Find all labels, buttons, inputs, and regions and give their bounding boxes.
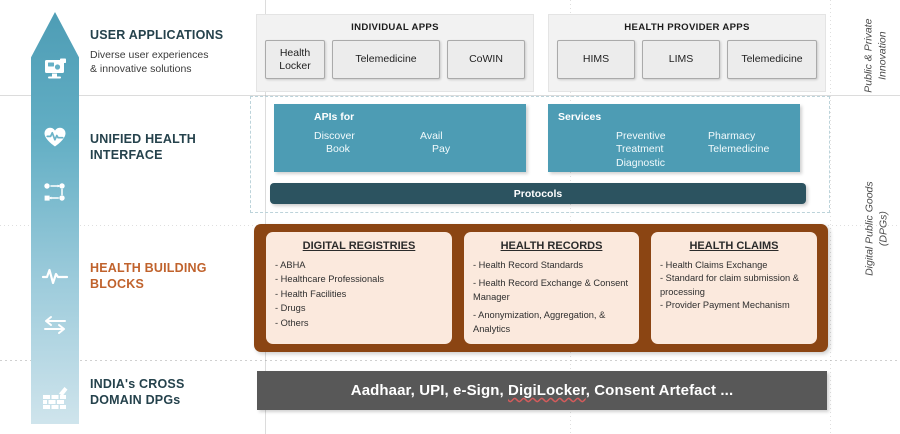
card-list: - ABHA - Healthcare Professionals - Heal… bbox=[275, 259, 443, 330]
services-heading: Services bbox=[548, 104, 800, 123]
apis-item-discover: Discover bbox=[314, 130, 420, 143]
card-list: - Health Claims Exchange - Standard for … bbox=[660, 259, 808, 313]
protocols-label: Protocols bbox=[514, 188, 562, 200]
app-tile-telemedicine[interactable]: Telemedicine bbox=[332, 40, 440, 79]
apis-item-avail: Avail bbox=[420, 130, 526, 143]
list-item: - Standard for claim submission & proces… bbox=[660, 272, 808, 299]
monitor-user-apps-icon bbox=[31, 52, 79, 86]
protocols-bar: Protocols bbox=[270, 183, 806, 204]
individual-apps-panel: INDIVIDUAL APPS Health Locker Telemedici… bbox=[256, 14, 534, 92]
layer-title: HEALTH BUILDING BLOCKS bbox=[90, 261, 207, 292]
layer-title: INDIA's CROSS DOMAIN DPGs bbox=[90, 377, 184, 408]
list-item: - Health Record Exchange & Consent Manag… bbox=[473, 277, 630, 304]
layer-subtitle: Diverse user experiences & innovative so… bbox=[90, 48, 223, 76]
list-item: - ABHA bbox=[275, 259, 443, 272]
dpg-text-digilocker-misspelled: DigiLocker bbox=[508, 382, 586, 399]
brick-wall-icon bbox=[31, 382, 79, 414]
card-health-claims: HEALTH CLAIMS - Health Claims Exchange -… bbox=[651, 232, 817, 344]
individual-apps-row: Health Locker Telemedicine CoWIN bbox=[257, 33, 533, 79]
app-tile-hims[interactable]: HIMS bbox=[557, 40, 635, 79]
list-item: - Provider Payment Mechanism bbox=[660, 299, 808, 312]
list-item: - Drugs bbox=[275, 302, 443, 315]
individual-apps-heading: INDIVIDUAL APPS bbox=[257, 22, 533, 33]
app-tile-health-locker[interactable]: Health Locker bbox=[265, 40, 325, 79]
layer-label-health-building-blocks: HEALTH BUILDING BLOCKS bbox=[90, 261, 207, 292]
health-provider-apps-heading: HEALTH PROVIDER APPS bbox=[549, 22, 825, 33]
layer-label-user-applications: USER APPLICATIONS Diverse user experienc… bbox=[90, 28, 223, 76]
pulse-wave-icon bbox=[31, 260, 79, 290]
app-tile-telemedicine-provider[interactable]: Telemedicine bbox=[727, 40, 817, 79]
card-title: DIGITAL REGISTRIES bbox=[275, 240, 443, 252]
apis-box: APIs for Discover Book Avail Pay bbox=[274, 104, 526, 172]
health-provider-apps-row: HIMS LIMS Telemedicine bbox=[549, 33, 825, 79]
apis-heading: APIs for bbox=[274, 104, 526, 123]
arrow-icon-group bbox=[31, 12, 79, 424]
side-label-public-private-innovation: Public & Private Innovation bbox=[862, 0, 889, 116]
layer-label-india-cross-domain-dpgs: INDIA's CROSS DOMAIN DPGs bbox=[90, 377, 184, 408]
services-column-right: Pharmacy Telemedicine bbox=[708, 130, 800, 170]
services-item-pharmacy: Pharmacy bbox=[708, 130, 800, 143]
list-item: - Healthcare Professionals bbox=[275, 273, 443, 286]
app-tile-cowin[interactable]: CoWIN bbox=[447, 40, 525, 79]
apis-item-book: Book bbox=[314, 143, 420, 156]
card-title: HEALTH CLAIMS bbox=[660, 240, 808, 252]
dpg-text-before: Aadhaar, UPI, e-Sign, bbox=[351, 382, 508, 399]
services-columns: Preventive Treatment Diagnostic Pharmacy… bbox=[548, 130, 800, 170]
services-box: Services Preventive Treatment Diagnostic… bbox=[548, 104, 800, 172]
grid-line bbox=[0, 360, 900, 361]
card-title: HEALTH RECORDS bbox=[473, 240, 630, 252]
heart-pulse-icon bbox=[31, 120, 79, 154]
services-item-diagnostic: Diagnostic bbox=[616, 157, 708, 170]
list-item: - Health Facilities bbox=[275, 288, 443, 301]
services-item-treatment: Treatment bbox=[616, 143, 708, 156]
card-list: - Health Record Standards - Health Recor… bbox=[473, 259, 630, 336]
layer-label-unified-health-interface: UNIFIED HEALTH INTERFACE bbox=[90, 132, 196, 163]
list-item: - Anonymization, Aggregation, & Analytic… bbox=[473, 309, 630, 336]
list-item: - Others bbox=[275, 317, 443, 330]
dpg-text-after: , Consent Artefact ... bbox=[586, 382, 734, 399]
services-column-left: Preventive Treatment Diagnostic bbox=[616, 130, 708, 170]
card-health-records: HEALTH RECORDS - Health Record Standards… bbox=[464, 232, 639, 344]
apis-columns: Discover Book Avail Pay bbox=[274, 130, 526, 157]
grid-line bbox=[830, 0, 831, 434]
apis-column-right: Avail Pay bbox=[420, 130, 526, 157]
layer-title: UNIFIED HEALTH INTERFACE bbox=[90, 132, 196, 163]
services-item-preventive: Preventive bbox=[616, 130, 708, 143]
health-provider-apps-panel: HEALTH PROVIDER APPS HIMS LIMS Telemedic… bbox=[548, 14, 826, 92]
list-item: - Health Claims Exchange bbox=[660, 259, 808, 272]
apis-item-pay: Pay bbox=[420, 143, 526, 156]
services-item-telemedicine: Telemedicine bbox=[708, 143, 800, 156]
layer-title: USER APPLICATIONS bbox=[90, 28, 223, 44]
apis-column-left: Discover Book bbox=[314, 130, 420, 157]
exchange-arrows-icon bbox=[31, 310, 79, 340]
card-digital-registries: DIGITAL REGISTRIES - ABHA - Healthcare P… bbox=[266, 232, 452, 344]
list-item: - Health Record Standards bbox=[473, 259, 630, 272]
dpg-bar-text: Aadhaar, UPI, e-Sign, DigiLocker, Consen… bbox=[351, 382, 733, 399]
side-label-digital-public-goods: Digital Public Goods (DPGs) bbox=[863, 164, 890, 294]
app-tile-lims[interactable]: LIMS bbox=[642, 40, 720, 79]
cross-domain-dpgs-bar: Aadhaar, UPI, e-Sign, DigiLocker, Consen… bbox=[257, 371, 827, 410]
network-nodes-icon bbox=[31, 176, 79, 208]
